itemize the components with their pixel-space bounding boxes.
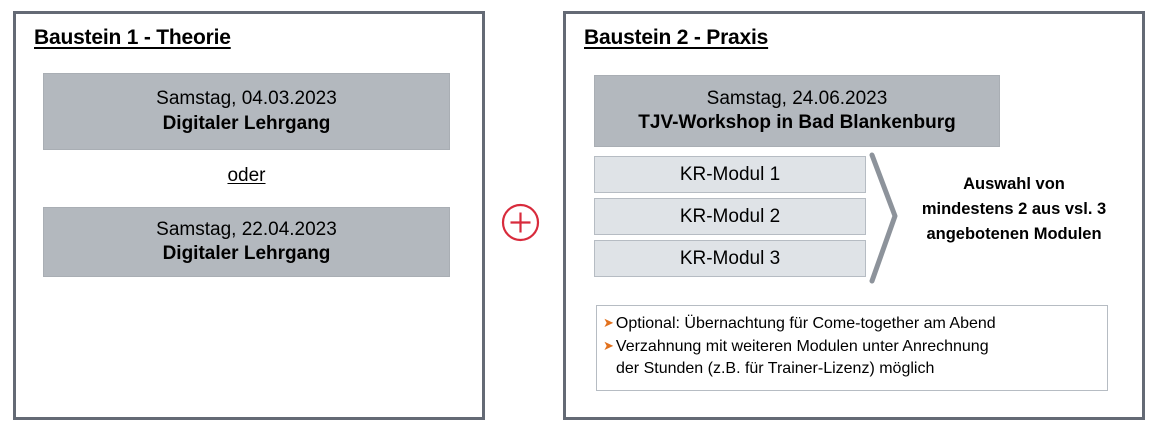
arrow-bullet-icon: ➤: [603, 336, 614, 356]
course-date: Samstag, 24.06.2023: [707, 87, 888, 111]
module-label: KR-Modul 3: [680, 248, 780, 270]
course-date: Samstag, 04.03.2023: [156, 87, 337, 111]
plus-circle-icon: [500, 202, 541, 243]
list-item-text: Optional: Übernachtung für Come-together…: [616, 313, 1099, 336]
curly-brace-icon: [868, 152, 902, 284]
module-label: KR-Modul 1: [680, 164, 780, 186]
note-line-2: mindestens 2 aus vsl. 3: [898, 197, 1130, 222]
course-card-theorie-1: Samstag, 04.03.2023 Digitaler Lehrgang: [43, 73, 450, 150]
list-item: ➤ Optional: Übernachtung für Come-togeth…: [603, 313, 1099, 336]
separator-oder: oder: [43, 165, 450, 187]
panel-title-baustein-1: Baustein 1 - Theorie: [34, 26, 231, 50]
course-card-praxis: Samstag, 24.06.2023 TJV-Workshop in Bad …: [594, 75, 1000, 147]
module-box-2: KR-Modul 2: [594, 198, 866, 235]
module-label: KR-Modul 2: [680, 206, 780, 228]
note-line-1: Auswahl von: [898, 172, 1130, 197]
course-name: TJV-Workshop in Bad Blankenburg: [638, 111, 955, 135]
course-date: Samstag, 22.04.2023: [156, 218, 337, 242]
list-item: ➤ Verzahnung mit weiteren Modulen unter …: [603, 336, 1099, 359]
course-name: Digitaler Lehrgang: [163, 112, 331, 136]
course-name: Digitaler Lehrgang: [163, 242, 331, 266]
note-line-3: angebotenen Modulen: [898, 222, 1130, 247]
module-box-1: KR-Modul 1: [594, 156, 866, 193]
separator-oder-label: oder: [227, 165, 265, 186]
arrow-bullet-icon: ➤: [603, 313, 614, 333]
panel-title-baustein-2: Baustein 2 - Praxis: [584, 26, 768, 50]
list-item-continuation: der Stunden (z.B. für Trainer-Lizenz) mö…: [603, 358, 1099, 381]
course-card-theorie-2: Samstag, 22.04.2023 Digitaler Lehrgang: [43, 207, 450, 277]
additional-info-box: ➤ Optional: Übernachtung für Come-togeth…: [596, 305, 1108, 391]
module-selection-note: Auswahl von mindestens 2 aus vsl. 3 ange…: [898, 172, 1130, 246]
list-item-text: Verzahnung mit weiteren Modulen unter An…: [616, 336, 1099, 359]
module-box-3: KR-Modul 3: [594, 240, 866, 277]
